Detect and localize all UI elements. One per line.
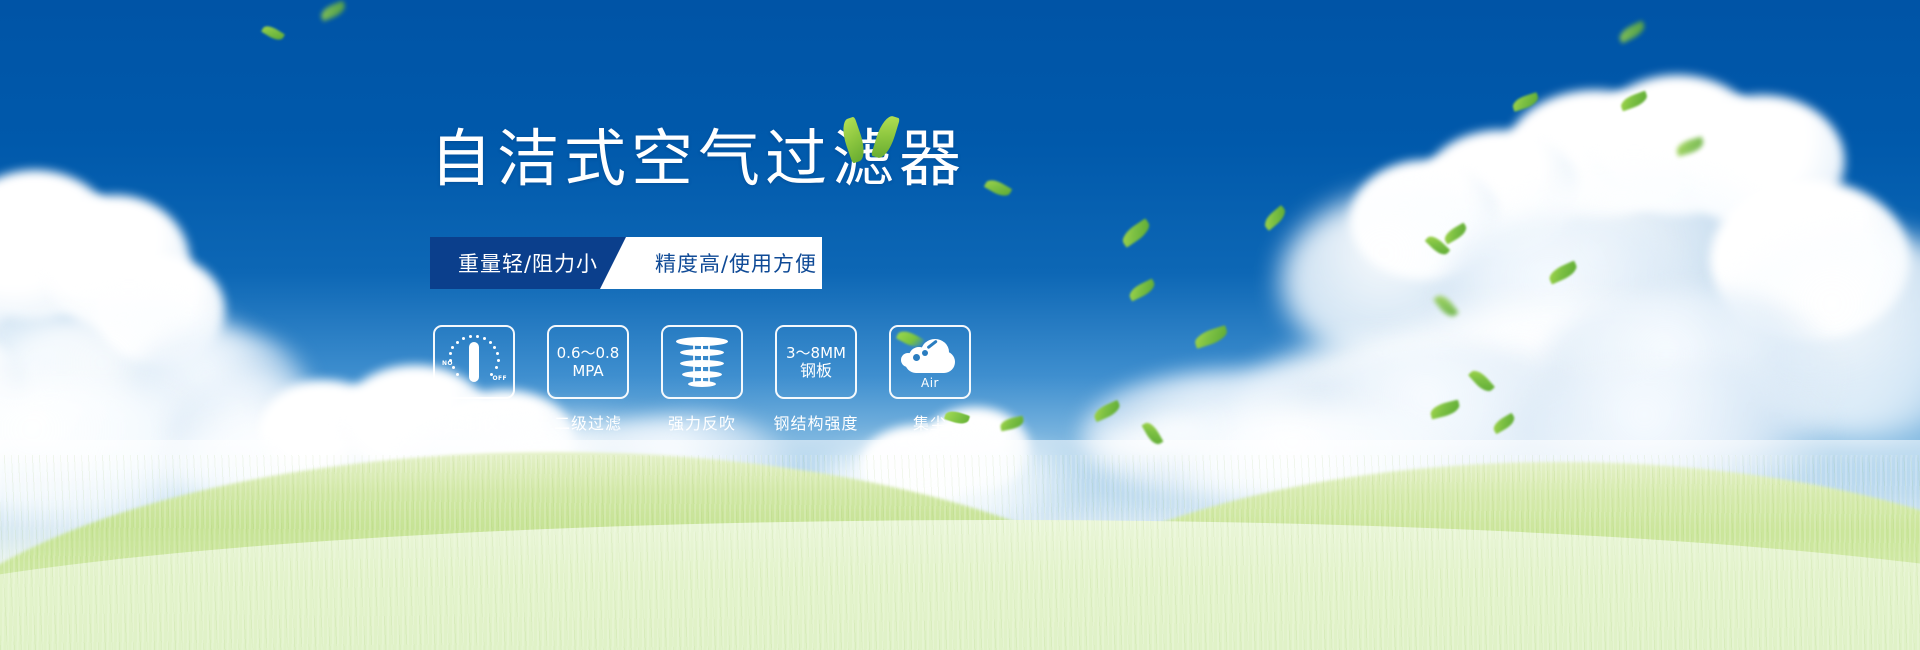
feature-item-controller[interactable]: NO OFF 控制仪	[432, 325, 516, 434]
hero-banner: 自洁式空气过滤器 重量轻/阻力小 精度高/使用方便	[0, 0, 1920, 650]
feature-label: 二级过滤	[554, 410, 622, 434]
tab-weight-resistance[interactable]: 重量轻/阻力小	[430, 237, 626, 289]
feature-icon-box	[661, 325, 743, 399]
feature-item-steel-strength[interactable]: 3～8MM 钢板 钢结构强度	[774, 325, 858, 434]
tab-label: 重量轻/阻力小	[458, 248, 598, 278]
feature-label: 控制仪	[448, 410, 499, 434]
gauge-label-off: OFF	[493, 375, 508, 382]
gauge-icon: NO OFF	[443, 333, 505, 391]
feature-list: NO OFF 控制仪 0.6～0.8 MPA 二级过滤	[432, 325, 972, 434]
feature-label: 集尘	[913, 410, 947, 434]
feature-icon-box: NO OFF	[433, 325, 515, 399]
steel-plate-text: 钢板	[800, 362, 832, 380]
pressure-range-text: 0.6～0.8	[557, 344, 620, 362]
coil-filter-icon	[676, 335, 728, 389]
leaf-icon	[838, 116, 868, 163]
leaf-icon	[944, 409, 970, 427]
feature-label: 强力反吹	[668, 410, 736, 434]
feature-icon-box: 3～8MM 钢板	[775, 325, 857, 399]
feature-tabs: 重量轻/阻力小 精度高/使用方便	[430, 237, 822, 289]
pressure-unit-text: MPA	[572, 362, 603, 380]
gauge-label-no: NO	[442, 360, 453, 367]
tab-precision-ease[interactable]: 精度高/使用方便	[626, 237, 822, 289]
tab-label: 精度高/使用方便	[655, 248, 817, 278]
feature-label: 钢结构强度	[774, 410, 859, 434]
leaf-icon	[871, 113, 900, 160]
feature-item-back-blow[interactable]: 强力反吹	[660, 325, 744, 434]
title-leaf-pair	[843, 110, 907, 166]
steel-thickness-text: 3～8MM	[786, 344, 846, 362]
air-label: Air	[899, 376, 961, 390]
feature-item-dust-collection[interactable]: Air 集尘	[888, 325, 972, 434]
banner-content: 自洁式空气过滤器 重量轻/阻力小 精度高/使用方便	[0, 0, 1920, 650]
feature-icon-box: Air	[889, 325, 971, 399]
air-cloud-icon: Air	[899, 335, 961, 389]
feature-icon-box: 0.6～0.8 MPA	[547, 325, 629, 399]
gauge-needle	[469, 342, 479, 382]
feature-item-two-stage-filter[interactable]: 0.6～0.8 MPA 二级过滤	[546, 325, 630, 434]
